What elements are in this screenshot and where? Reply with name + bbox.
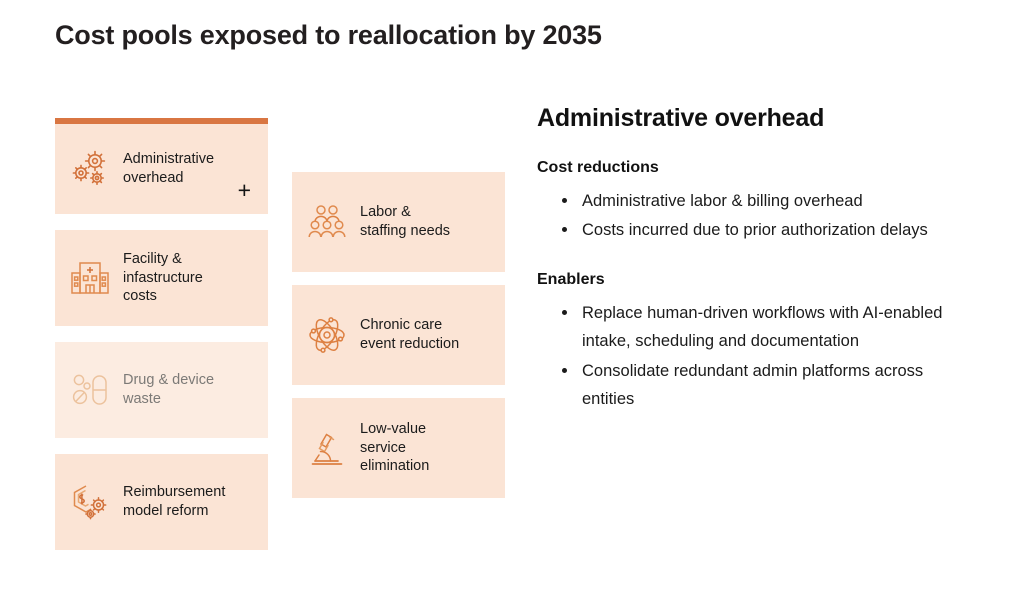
cost-pool-label: Administrative overhead [123,150,214,187]
cost-pool-card-drug-device-waste[interactable]: Drug & device waste [55,342,268,438]
hospital-building-icon [67,255,113,301]
cost-pool-card-chronic-care-event-reduction[interactable]: Chronic care event reduction [292,285,505,385]
detail-panel: Administrative overhead Cost reductions … [537,104,977,414]
detail-title: Administrative overhead [537,104,977,133]
cost-pool-card-reimbursement-model-reform[interactable]: Reimbursement model reform [55,454,268,550]
cost-reductions-heading: Cost reductions [537,159,977,177]
cost-pool-label: Facility & infastructure costs [123,250,203,306]
cost-reductions-list: Administrative labor & billing overhead … [537,187,977,245]
page-title: Cost pools exposed to reallocation by 20… [55,20,602,51]
cost-pool-label: Labor & staffing needs [360,203,450,240]
enablers-list: Replace human-driven workflows with AI-e… [537,299,977,414]
cost-pool-card-labor-staffing-needs[interactable]: Labor & staffing needs [292,172,505,272]
list-item: Costs incurred due to prior authorizatio… [562,216,977,244]
cost-pool-label: Chronic care event reduction [360,316,459,353]
cost-pool-card-facility-infrastructure-costs[interactable]: Facility & infastructure costs [55,230,268,326]
microscope-icon [304,425,350,471]
cost-pool-label: Drug & device waste [123,371,214,408]
active-accent-bar [55,118,268,124]
pills-capsule-icon [67,367,113,413]
gears-icon [67,146,113,192]
cost-pool-label: Reimbursement model reform [123,483,225,520]
cost-pool-label: Low-value service elimination [360,420,429,476]
cost-pool-card-low-value-service-elimination[interactable]: Low-value service elimination [292,398,505,498]
cost-pool-column-middle: Labor & staffing needs Chronic care even… [292,172,505,511]
list-item: Administrative labor & billing overhead [562,187,977,215]
cost-pool-column-left: Administrative overhead + Facility & inf… [55,118,268,566]
list-item: Consolidate redundant admin platforms ac… [562,357,977,414]
dollar-hexagon-gears-icon [67,479,113,525]
list-item: Replace human-driven workflows with AI-e… [562,299,977,356]
expand-button[interactable]: + [238,179,251,202]
people-group-icon [304,199,350,245]
cost-pool-card-administrative-overhead[interactable]: Administrative overhead + [55,118,268,214]
atom-icon [304,312,350,358]
enablers-heading: Enablers [537,271,977,289]
